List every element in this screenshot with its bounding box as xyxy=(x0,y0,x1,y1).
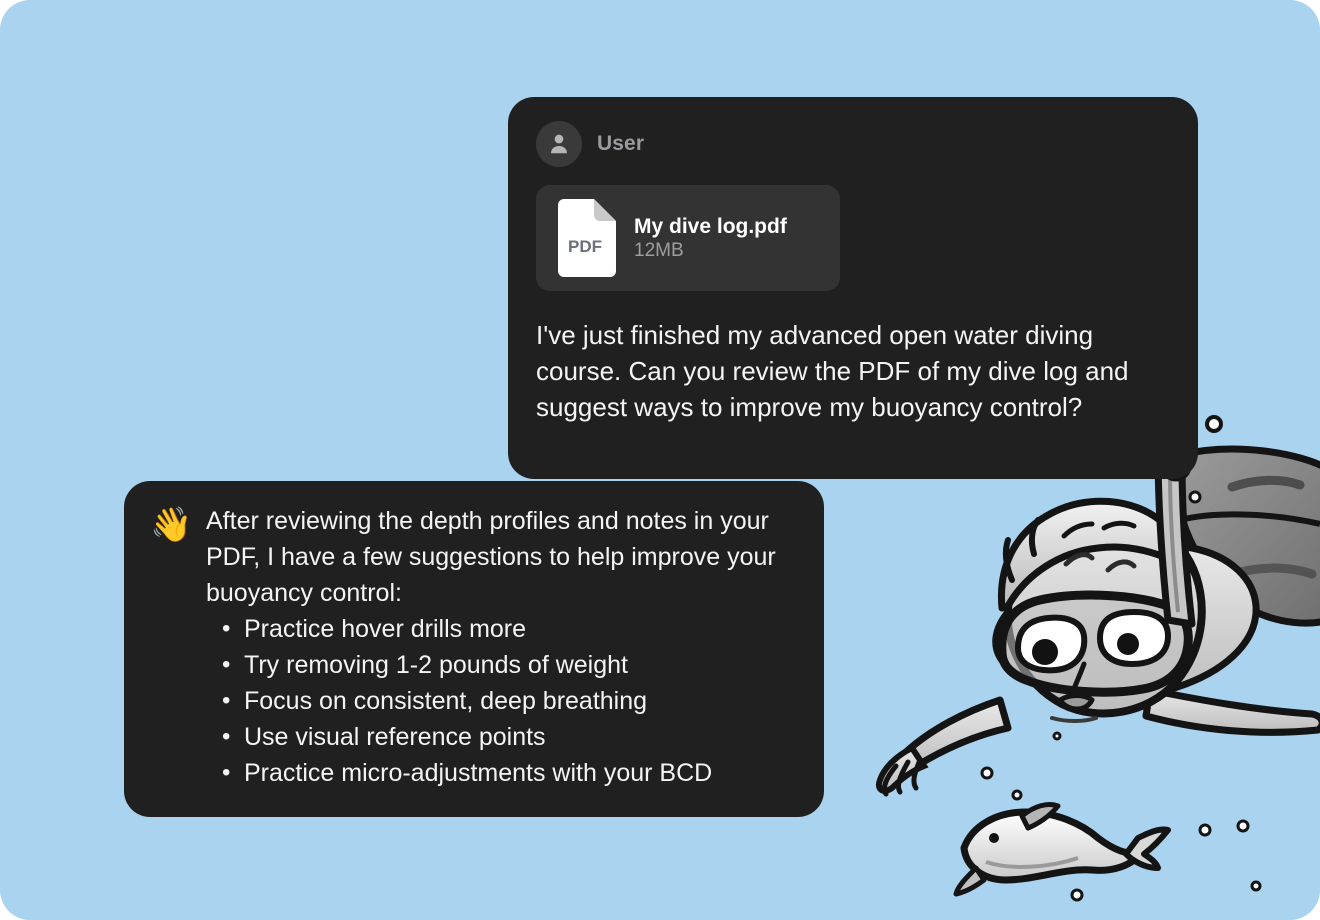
user-message-text: I've just finished my advanced open wate… xyxy=(536,317,1170,425)
assistant-intro-text: After reviewing the depth profiles and n… xyxy=(206,503,798,611)
waving-hand-emoji: 👋 xyxy=(150,505,206,791)
diver-figure xyxy=(879,441,1320,794)
fish-illustration xyxy=(956,804,1168,894)
user-header: User xyxy=(536,121,1170,167)
diver-hand xyxy=(879,748,924,794)
suggestion-item: Use visual reference points xyxy=(206,719,798,755)
attachment-card[interactable]: PDF My dive log.pdf 12MB xyxy=(536,185,840,291)
svg-text:PDF: PDF xyxy=(568,237,602,256)
suggestion-item: Practice hover drills more xyxy=(206,611,798,647)
person-avatar-icon xyxy=(536,121,582,167)
pdf-file-icon: PDF xyxy=(554,199,616,277)
assistant-message-bubble: 👋 After reviewing the depth profiles and… xyxy=(124,481,824,817)
attachment-meta: My dive log.pdf 12MB xyxy=(634,214,822,261)
user-message-bubble: User PDF My dive log.pdf 12MB I've just … xyxy=(508,97,1198,479)
user-name-label: User xyxy=(597,132,644,156)
suggestion-list: Practice hover drills moreTry removing 1… xyxy=(206,611,798,791)
assistant-message-text: After reviewing the depth profiles and n… xyxy=(206,503,798,791)
suggestion-item: Practice micro-adjustments with your BCD xyxy=(206,755,798,791)
attachment-file-name: My dive log.pdf xyxy=(634,215,787,238)
suggestion-item: Try removing 1-2 pounds of weight xyxy=(206,647,798,683)
suggestion-item: Focus on consistent, deep breathing xyxy=(206,683,798,719)
page-root: User PDF My dive log.pdf 12MB I've just … xyxy=(0,0,1320,920)
attachment-file-size: 12MB xyxy=(634,240,684,261)
